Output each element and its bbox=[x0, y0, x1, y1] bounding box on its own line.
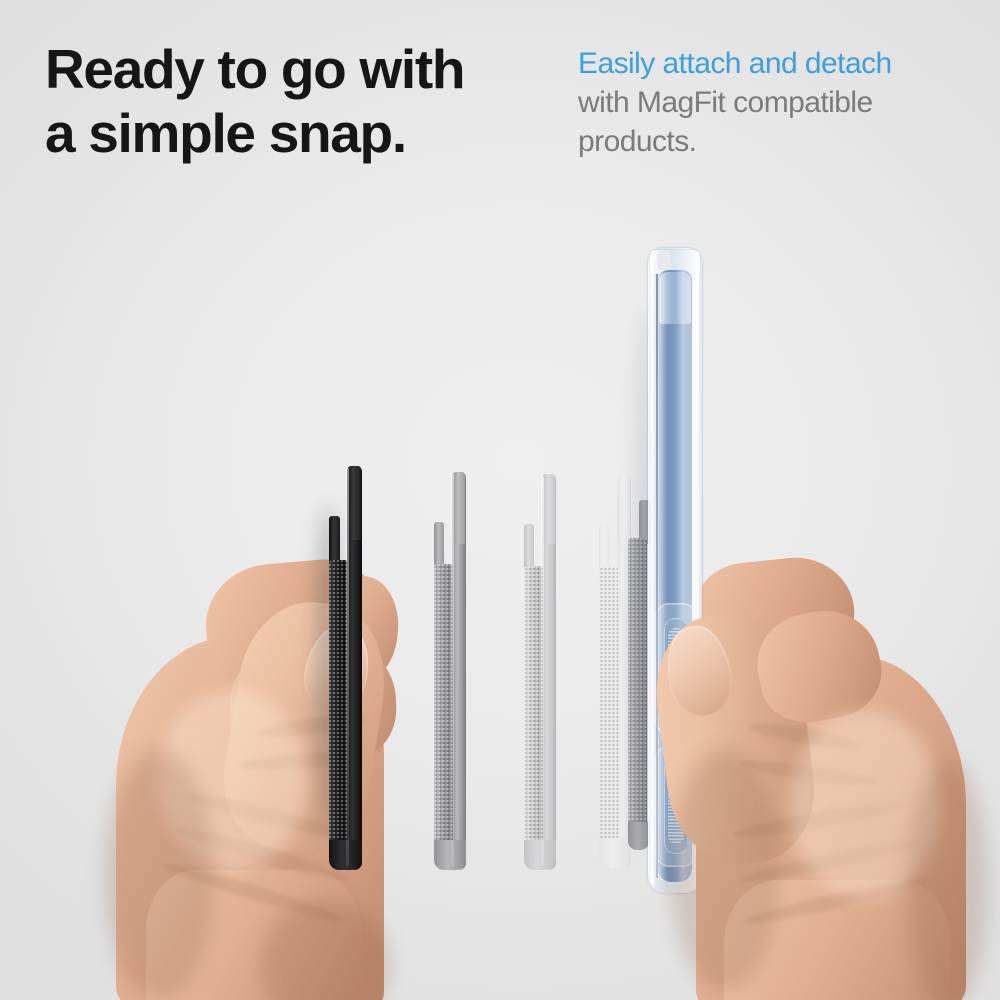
wallet-frame-3-light bbox=[522, 474, 562, 870]
right-hand-shadow-left bbox=[670, 750, 780, 990]
page-headline: Ready to go with a simple snap. bbox=[45, 38, 565, 166]
left-hand-shadow bbox=[104, 750, 214, 1000]
wallet-4-textured-body bbox=[599, 566, 618, 858]
phone-top-chamfer bbox=[659, 272, 691, 324]
wallet-2-textured-body bbox=[434, 564, 453, 860]
wallet-1-bottom-cap bbox=[329, 840, 362, 870]
left-hand bbox=[110, 540, 440, 1000]
subcopy-highlight: Easily attach and detach bbox=[578, 47, 892, 80]
wallet-3-backplate-lip bbox=[543, 474, 555, 544]
product-hero-scene: Ready to go with a simple snap. Easily a… bbox=[0, 0, 1000, 1000]
wallet-frame-1-black bbox=[327, 466, 369, 870]
page-subcopy: Easily attach and detach with MagFit com… bbox=[578, 44, 948, 161]
right-hand bbox=[640, 560, 970, 1000]
wallet-3-bottom-cap bbox=[524, 840, 556, 870]
wallet-1-front-lip bbox=[329, 516, 340, 562]
wallet-frame-2-gray bbox=[432, 472, 472, 870]
wallet-1-textured-body bbox=[329, 560, 348, 860]
wallet-2-backplate-lip bbox=[453, 472, 465, 544]
wallet-3-front-lip bbox=[524, 524, 534, 568]
wallet-1-backplate-lip bbox=[348, 466, 361, 540]
subcopy-rest: with MagFit compatible products. bbox=[578, 86, 873, 158]
wallet-2-front-lip bbox=[434, 522, 444, 566]
wallet-3-textured-body bbox=[524, 566, 543, 860]
case-top-notch-cut bbox=[657, 252, 671, 270]
wallet-4-front-lip bbox=[599, 526, 609, 568]
wallet-2-bottom-cap bbox=[434, 840, 466, 870]
right-hand-shadow-edge bbox=[908, 760, 988, 1000]
